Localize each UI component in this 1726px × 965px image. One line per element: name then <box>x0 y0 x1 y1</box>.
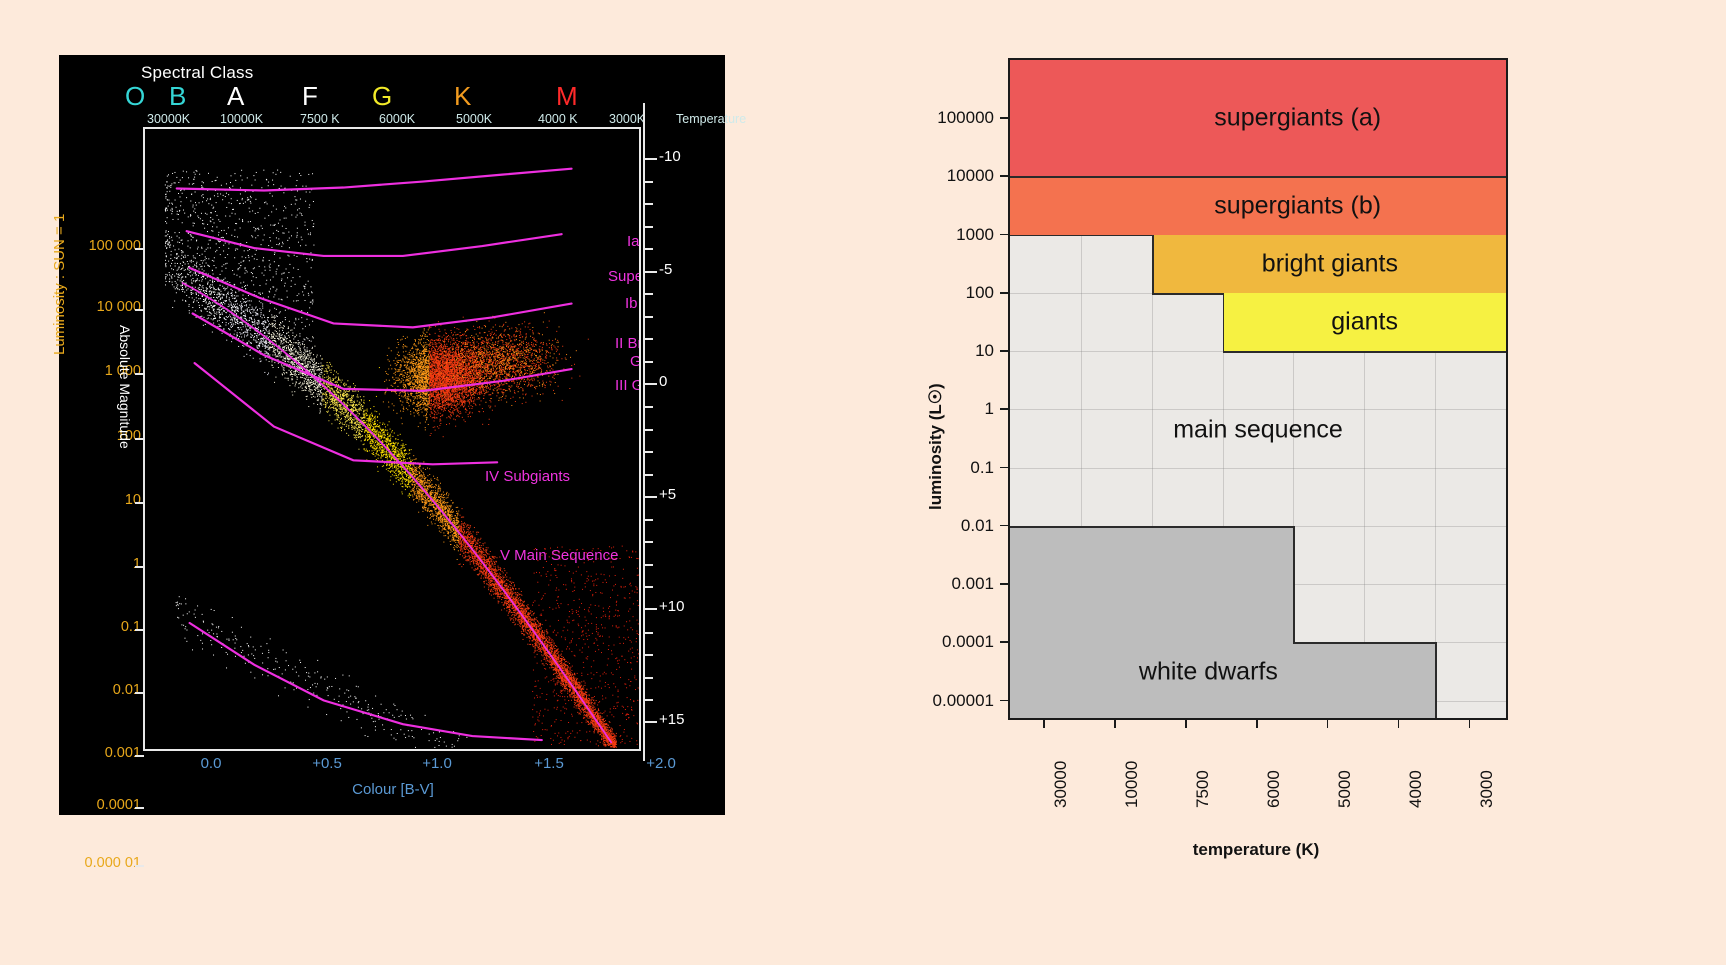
magnitude-minor-tick <box>643 654 653 656</box>
magnitude-minor-tick <box>643 226 653 228</box>
luminosity-tick-mark <box>135 248 144 250</box>
schematic-region-boundary <box>1293 642 1435 644</box>
schematic-region-label: giants <box>1331 308 1398 337</box>
schematic-plot-area: supergiants (a)supergiants (b)bright gia… <box>1008 58 1508 720</box>
schematic-gridline-v <box>1506 60 1507 718</box>
schematic-temperature-axis-title: temperature (K) <box>1193 840 1320 860</box>
schematic-temperature-tick-mark <box>1114 720 1116 728</box>
schematic-region-label: supergiants (a) <box>1214 104 1381 133</box>
schematic-temperature-tick-label: 7500 <box>1193 770 1213 808</box>
annotation-iii-giants: III Giants <box>615 377 641 394</box>
schematic-region-boundary <box>1293 526 1295 642</box>
schematic-luminosity-tick-label: 100000 <box>937 108 994 128</box>
schematic-region-boundary <box>1435 642 1437 718</box>
magnitude-tick-label: +15 <box>659 711 684 728</box>
magnitude-minor-tick <box>643 406 653 408</box>
schematic-temperature-tick-label: 30000 <box>1051 761 1071 808</box>
magnitude-tick-label: -10 <box>659 148 681 165</box>
schematic-luminosity-tick-label: 10000 <box>947 166 994 186</box>
luminosity-tick-label: 0.1 <box>121 619 141 635</box>
colour-axis-ticks: 0.0+0.5+1.0+1.5+2.0 <box>143 755 643 777</box>
luminosity-tick-label: 100 000 <box>89 238 141 254</box>
magnitude-tick-label: +5 <box>659 486 676 503</box>
schematic-luminosity-tick-mark <box>1000 117 1008 119</box>
schematic-luminosity-tick-mark <box>1000 641 1008 643</box>
magnitude-axis-line <box>643 103 645 761</box>
schematic-temperature-tick-mark <box>1256 720 1258 728</box>
magnitude-tick-mark <box>643 271 657 273</box>
magnitude-tick-label: -5 <box>659 261 672 278</box>
schematic-luminosity-tick-mark <box>1000 292 1008 294</box>
luminosity-tick-mark <box>135 502 144 504</box>
spectral-class-a: A <box>227 83 244 109</box>
schematic-temperature-tick-mark <box>1398 720 1400 728</box>
luminosity-tick-mark <box>135 865 144 867</box>
magnitude-minor-tick <box>643 338 653 340</box>
schematic-temperature-tick-label: 3000 <box>1477 770 1497 808</box>
schematic-temperature-tick-mark <box>1327 720 1329 728</box>
colour-tick-label: +0.5 <box>312 755 342 772</box>
luminosity-tick-label: 0.0001 <box>97 797 141 813</box>
schematic-region-boundary <box>1152 235 1154 293</box>
schematic-luminosity-tick-mark <box>1000 234 1008 236</box>
schematic-temperature-tick-label: 4000 <box>1406 770 1426 808</box>
schematic-region-boundary <box>1223 293 1225 351</box>
magnitude-minor-tick <box>643 474 653 476</box>
hr-scatter-plot: IaSupergiantsIbII BrightGiantsIII Giants… <box>143 127 641 751</box>
luminosity-tick-label: 0.001 <box>105 745 141 761</box>
schematic-region-boundary <box>1152 293 1223 295</box>
schematic-region-label: supergiants (b) <box>1214 191 1381 220</box>
luminosity-axis-title: Luminosity : SUN = 1 <box>51 214 68 355</box>
schematic-region-boundary <box>1010 176 1506 178</box>
spectral-class-m: M <box>556 83 578 109</box>
temperature-tick: 5000K <box>456 112 492 126</box>
schematic-luminosity-tick-label: 0.1 <box>970 458 994 478</box>
schematic-luminosity-tick-mark <box>1000 583 1008 585</box>
schematic-temperature-tick-mark <box>1469 720 1471 728</box>
schematic-luminosity-tick-label: 1 <box>985 399 994 419</box>
spectral-class-g: G <box>372 83 392 109</box>
annotation-ia: Ia <box>627 233 640 250</box>
luminosity-tick-label: 0.01 <box>113 682 141 698</box>
schematic-temperature-axis: 300001000075006000500040003000 <box>1008 720 1508 830</box>
magnitude-minor-tick <box>643 541 653 543</box>
magnitude-minor-tick <box>643 451 653 453</box>
magnitude-tick-label: 0 <box>659 373 667 390</box>
absolute-magnitude-axis-title: Absolute Magnitude <box>117 325 133 449</box>
magnitude-minor-tick <box>643 586 653 588</box>
spectral-class-k: K <box>454 83 471 109</box>
luminosity-tick-label: 1 <box>133 556 141 572</box>
magnitude-minor-tick <box>643 181 653 183</box>
luminosity-tick-label: 10 <box>125 492 141 508</box>
annotation-supergiants: Supergiants <box>608 268 641 285</box>
temperature-tick: 6000K <box>379 112 415 126</box>
schematic-gridline-h <box>1010 468 1506 469</box>
schematic-region-label: white dwarfs <box>1139 658 1278 687</box>
magnitude-tick-mark <box>643 158 657 160</box>
magnitude-minor-tick <box>643 699 653 701</box>
schematic-region-label-main-sequence: main sequence <box>1173 415 1343 444</box>
luminosity-tick-label: 10 000 <box>97 299 141 315</box>
hr-schematic-panel: supergiants (a)supergiants (b)bright gia… <box>900 40 1600 900</box>
schematic-luminosity-tick-label: 0.0001 <box>942 632 994 652</box>
absolute-magnitude-axis: -10-50+5+10+15 <box>643 103 733 763</box>
temperature-tick: 10000K <box>220 112 263 126</box>
colour-tick-label: +1.5 <box>534 755 564 772</box>
spectral-class-b: B <box>169 83 186 109</box>
schematic-luminosity-tick-mark <box>1000 700 1008 702</box>
schematic-region-boundary <box>1223 351 1506 353</box>
schematic-luminosity-tick-mark <box>1000 467 1008 469</box>
schematic-region-boundary <box>1010 526 1293 528</box>
annotation-ib: Ib <box>625 295 638 312</box>
magnitude-tick-mark <box>643 496 657 498</box>
schematic-luminosity-tick-mark <box>1000 525 1008 527</box>
magnitude-minor-tick <box>643 203 653 205</box>
schematic-temperature-tick-label: 6000 <box>1264 770 1284 808</box>
magnitude-minor-tick <box>643 248 653 250</box>
temperature-tick: 3000K <box>609 112 645 126</box>
schematic-region-label: bright giants <box>1262 249 1398 278</box>
spectral-class-title: Spectral Class <box>141 63 253 83</box>
colour-tick-label: +2.0 <box>646 755 676 772</box>
schematic-luminosity-tick-label: 10 <box>975 341 994 361</box>
magnitude-minor-tick <box>643 429 653 431</box>
luminosity-tick-mark <box>135 692 144 694</box>
annotation-ii-bright: II Bright <box>615 335 641 352</box>
temperature-tick: 7500 K <box>300 112 340 126</box>
annotation-v-main-sequence: V Main Sequence <box>500 547 618 564</box>
schematic-luminosity-tick-label: 0.01 <box>961 516 994 536</box>
hr-diagram-photo-panel: Spectral Class OBAFGKM 30000K10000K7500 … <box>59 55 725 815</box>
spectral-class-f: F <box>302 83 318 109</box>
annotation-iv-subgiants: IV Subgiants <box>485 468 570 485</box>
schematic-luminosity-tick-label: 100 <box>966 283 994 303</box>
temperature-tick: 30000K <box>147 112 190 126</box>
magnitude-minor-tick <box>643 293 653 295</box>
schematic-luminosity-tick-label: 0.00001 <box>933 691 994 711</box>
schematic-luminosity-tick-label: 0.001 <box>951 574 994 594</box>
magnitude-minor-tick <box>643 564 653 566</box>
schematic-luminosity-tick-mark <box>1000 350 1008 352</box>
annotation-giants: Giants <box>630 353 641 370</box>
magnitude-tick-mark <box>643 383 657 385</box>
schematic-gridline-h <box>1010 409 1506 410</box>
schematic-luminosity-axis-title: luminosity (L☉) <box>926 383 946 510</box>
magnitude-tick-label: +10 <box>659 598 684 615</box>
schematic-luminosity-tick-mark <box>1000 408 1008 410</box>
luminosity-tick-mark <box>135 629 144 631</box>
colour-tick-label: +1.0 <box>422 755 452 772</box>
schematic-region-boundary <box>1010 235 1152 237</box>
luminosity-tick-mark <box>135 309 144 311</box>
schematic-luminosity-tick-label: 1000 <box>956 225 994 245</box>
luminosity-tick-mark <box>135 807 144 809</box>
colour-axis-title: Colour [B-V] <box>352 781 434 798</box>
schematic-region-fill <box>1010 526 1293 642</box>
schematic-temperature-tick-label: 5000 <box>1335 770 1355 808</box>
temperature-tick: 4000 K <box>538 112 578 126</box>
spectral-class-o: O <box>125 83 145 109</box>
spectral-class-row: OBAFGKM <box>59 83 725 115</box>
luminosity-tick-label: 0.000 01 <box>85 855 141 871</box>
schematic-temperature-tick-mark <box>1043 720 1045 728</box>
schematic-luminosity-axis: 1000001000010001001010.10.010.0010.00010… <box>900 58 1008 720</box>
star-scatter <box>145 129 639 748</box>
schematic-temperature-tick-label: 10000 <box>1122 761 1142 808</box>
magnitude-tick-mark <box>643 608 657 610</box>
luminosity-tick-mark <box>135 566 144 568</box>
magnitude-minor-tick <box>643 519 653 521</box>
luminosity-tick-mark <box>135 373 144 375</box>
colour-tick-label: 0.0 <box>201 755 222 772</box>
magnitude-minor-tick <box>643 361 653 363</box>
magnitude-minor-tick <box>643 632 653 634</box>
schematic-temperature-tick-mark <box>1185 720 1187 728</box>
schematic-luminosity-tick-mark <box>1000 175 1008 177</box>
luminosity-tick-mark <box>135 438 144 440</box>
magnitude-minor-tick <box>643 316 653 318</box>
magnitude-minor-tick <box>643 677 653 679</box>
magnitude-tick-mark <box>643 721 657 723</box>
